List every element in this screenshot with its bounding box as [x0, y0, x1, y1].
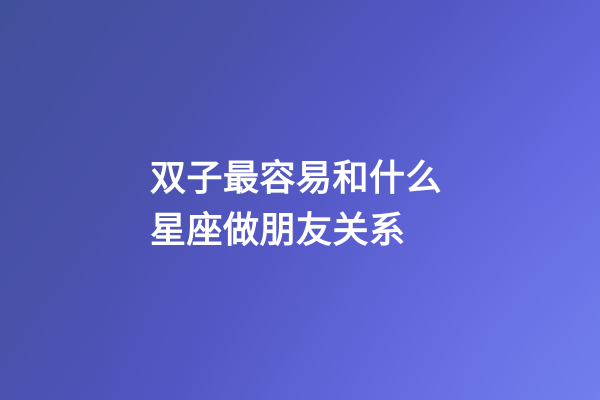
poster-canvas: 双子最容易和什么 星座做朋友关系 [0, 0, 600, 400]
page-title: 双子最容易和什么 星座做朋友关系 [150, 152, 470, 256]
